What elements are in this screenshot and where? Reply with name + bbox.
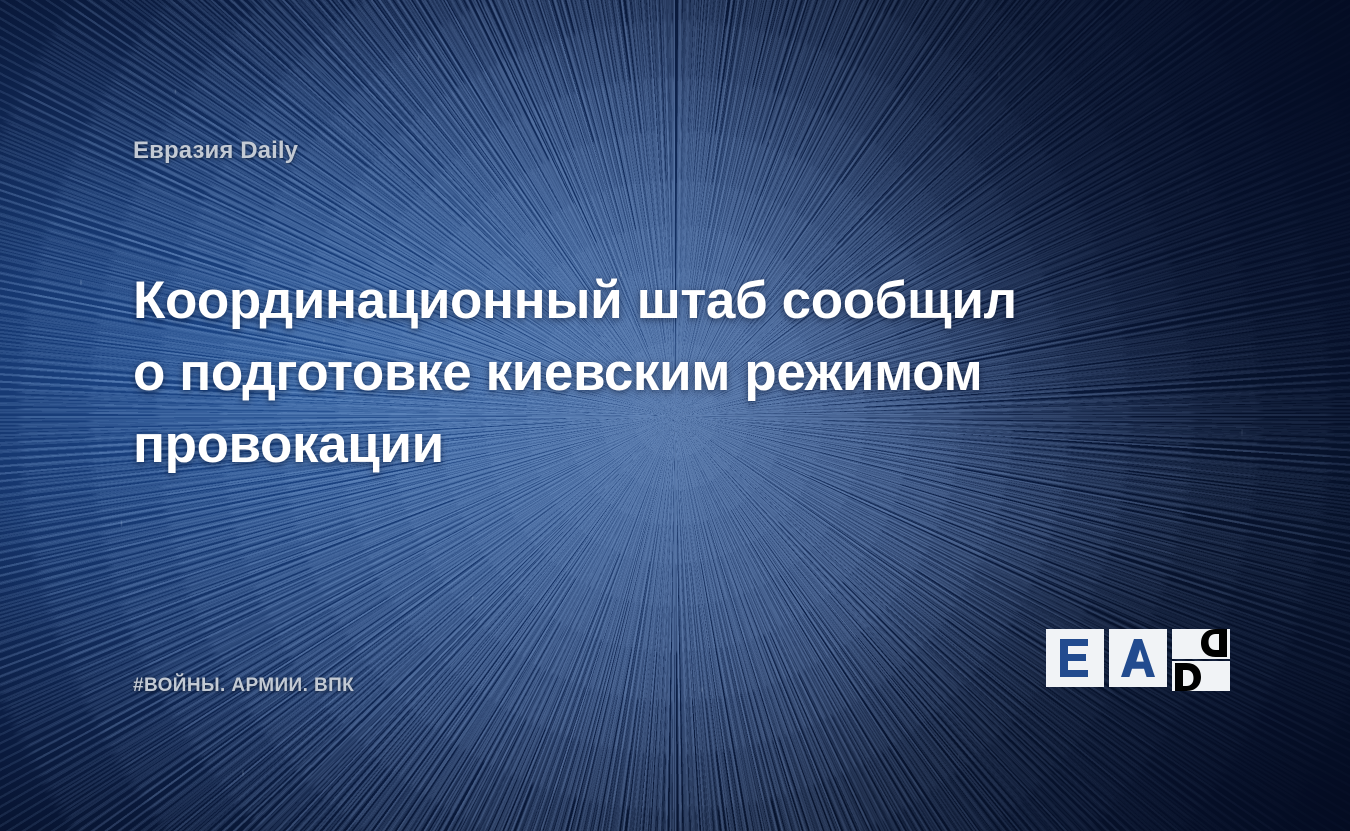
- logo-letter-e-icon: [1060, 639, 1090, 677]
- logo-letter-d-bottom-icon: [1172, 661, 1202, 691]
- logo-tile-d-top: [1172, 629, 1230, 659]
- eadaily-logo: [1046, 629, 1230, 687]
- logo-tile-d: [1172, 629, 1230, 687]
- rubric-hashtag: #ВОЙНЫ. АРМИИ. ВПК: [133, 675, 354, 697]
- news-card: Евразия Daily Координационный штаб сообщ…: [0, 0, 1350, 831]
- brand-name: Евразия Daily: [133, 137, 298, 165]
- logo-letter-a-icon: [1121, 639, 1155, 677]
- logo-tile-d-bottom: [1172, 661, 1230, 691]
- page-title: Координационный штаб сообщил о подготовк…: [133, 265, 1063, 481]
- logo-letter-d-top-icon: [1200, 629, 1230, 659]
- logo-tile-e: [1046, 629, 1104, 687]
- logo-tile-a: [1109, 629, 1167, 687]
